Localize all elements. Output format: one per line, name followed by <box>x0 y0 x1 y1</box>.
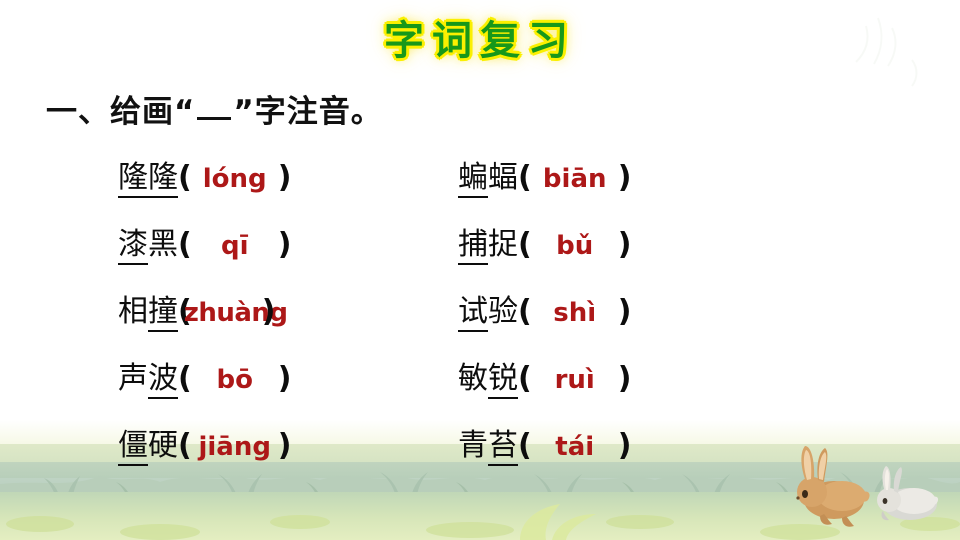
pinyin-answer: jiāng <box>192 432 278 462</box>
word-entry: 隆隆(lóng) <box>118 152 458 196</box>
word-row: 僵硬(jiāng)青苔(tái) <box>118 420 858 487</box>
paren-close: ) <box>278 428 292 463</box>
plain-character: 蝠 <box>488 160 518 195</box>
section-heading: 一、给画“”字注音。 <box>46 86 383 131</box>
word-characters: 敏锐 <box>458 353 518 397</box>
word-characters: 捕捉 <box>458 219 518 263</box>
word-row: 声波(bō)敏锐(ruì) <box>118 353 858 420</box>
paren-close: ) <box>618 160 632 195</box>
paren-close: ) <box>618 294 632 329</box>
pinyin-answer: bǔ <box>532 231 618 261</box>
plain-character: 声 <box>118 361 148 396</box>
word-entry: 僵硬(jiāng) <box>118 420 458 464</box>
white-rabbit <box>877 466 938 520</box>
plain-character: 硬 <box>148 428 178 463</box>
word-row: 隆隆(lóng)蝙蝠(biān) <box>118 152 858 219</box>
word-entry: 捕捉(bǔ) <box>458 219 798 263</box>
pinyin-answer: shì <box>532 298 618 328</box>
paren-close: ) <box>618 227 632 262</box>
word-characters: 青苔 <box>458 420 518 464</box>
word-entry: 蝙蝠(biān) <box>458 152 798 196</box>
word-characters: 僵硬 <box>118 420 178 464</box>
paren-close: ) <box>278 160 292 195</box>
underlined-character: 锐 <box>488 361 518 399</box>
word-entry: 相撞(zhuàng) <box>118 286 458 330</box>
paren-open: ( <box>518 361 532 396</box>
pinyin-answer: zhuàng <box>184 298 270 328</box>
paren-close: ) <box>618 428 632 463</box>
underlined-character: 漆 <box>118 227 148 265</box>
word-characters: 蝙蝠 <box>458 152 518 196</box>
underlined-character: 试 <box>458 294 488 332</box>
plain-character: 相 <box>118 294 148 329</box>
plain-character: 青 <box>458 428 488 463</box>
paren-open: ( <box>518 294 532 329</box>
paren-close: ) <box>262 294 276 329</box>
plain-character: 验 <box>488 294 518 329</box>
pinyin-answer: ruì <box>532 365 618 395</box>
paren-open: ( <box>178 361 192 396</box>
word-entry: 漆黑(qī) <box>118 219 458 263</box>
pinyin-answer: lóng <box>192 164 278 194</box>
word-entry: 青苔(tái) <box>458 420 798 464</box>
plain-character: 敏 <box>458 361 488 396</box>
word-row: 相撞(zhuàng)试验(shì) <box>118 286 858 353</box>
underlined-character: 波 <box>148 361 178 399</box>
word-row: 漆黑(qī)捕捉(bǔ) <box>118 219 858 286</box>
paren-open: ( <box>518 160 532 195</box>
word-characters: 相撞 <box>118 286 178 330</box>
underlined-character: 僵 <box>118 428 148 466</box>
paren-close: ) <box>278 227 292 262</box>
word-characters: 声波 <box>118 353 178 397</box>
underlined-character: 撞 <box>148 294 178 332</box>
plain-character: 黑 <box>148 227 178 262</box>
word-characters: 试验 <box>458 286 518 330</box>
underlined-character: 隆 <box>118 160 148 198</box>
paren-close: ) <box>618 361 632 396</box>
word-entry: 声波(bō) <box>118 353 458 397</box>
heading-quote-open: “ <box>174 94 195 130</box>
underlined-character: 捕 <box>458 227 488 265</box>
paren-open: ( <box>518 227 532 262</box>
word-entry: 敏锐(ruì) <box>458 353 798 397</box>
word-entry: 试验(shì) <box>458 286 798 330</box>
pinyin-answer: biān <box>532 164 618 194</box>
pinyin-answer: qī <box>192 231 278 261</box>
word-characters: 隆隆 <box>118 152 178 196</box>
underline-mark-icon <box>197 117 231 120</box>
slide-title: 字词复习 <box>384 8 576 66</box>
paren-close: ) <box>278 361 292 396</box>
heading-quote-close: ” <box>233 94 254 130</box>
word-characters: 漆黑 <box>118 219 178 263</box>
paren-open: ( <box>178 227 192 262</box>
pinyin-answer: bō <box>192 365 278 395</box>
underlined-character: 蝙 <box>458 160 488 198</box>
heading-suffix: 字注音。 <box>255 94 383 130</box>
plain-character: 捉 <box>488 227 518 262</box>
underlined-character: 苔 <box>488 428 518 466</box>
slide-canvas: 字词复习 一、给画“”字注音。 隆隆(lóng)蝙蝠(biān)漆黑(qī)捕捉… <box>0 0 960 540</box>
paren-open: ( <box>178 160 192 195</box>
underlined-character: 隆 <box>148 160 178 198</box>
word-list: 隆隆(lóng)蝙蝠(biān)漆黑(qī)捕捉(bǔ)相撞(zhuàng)试验… <box>118 152 858 487</box>
paren-open: ( <box>178 428 192 463</box>
paren-open: ( <box>518 428 532 463</box>
heading-prefix: 一、给画 <box>46 94 174 130</box>
slide-title-wrapper: 字词复习 <box>0 8 960 66</box>
pinyin-answer: tái <box>532 432 618 462</box>
